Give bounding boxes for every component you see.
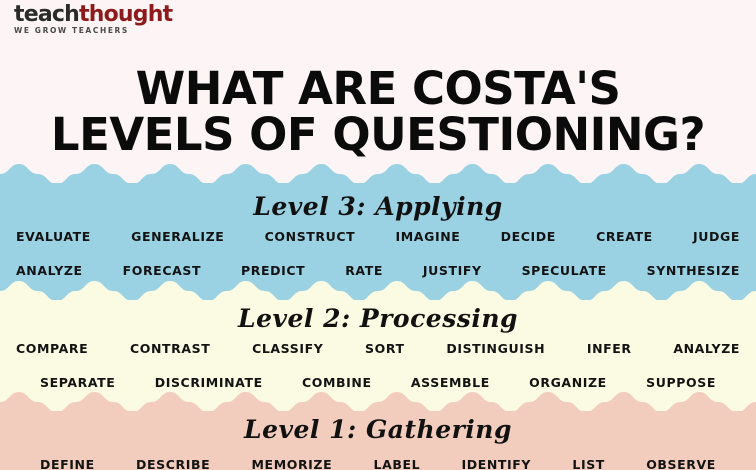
level-2-word: SORT: [365, 341, 405, 356]
level-2-word-row-1: COMPARE CONTRAST CLASSIFY SORT DISTINGUI…: [0, 341, 756, 356]
brand-logo-teach: teach: [14, 2, 79, 27]
level-2-word: SUPPOSE: [646, 375, 716, 390]
level-2-word: INFER: [587, 341, 632, 356]
level-1-title: Level 1: Gathering: [0, 415, 756, 444]
level-3-word: FORECAST: [123, 263, 202, 278]
page-title-line-2: LEVELS OF QUESTIONING?: [0, 112, 756, 158]
level-3-word: CONSTRUCT: [265, 229, 356, 244]
level-1-word: DESCRIBE: [136, 457, 210, 470]
level-2-word: SEPARATE: [40, 375, 115, 390]
level-3-word: IMAGINE: [396, 229, 461, 244]
level-2-word: DISTINGUISH: [446, 341, 545, 356]
level-3-word: GENERALIZE: [131, 229, 224, 244]
level-2-word: CLASSIFY: [252, 341, 323, 356]
wave-divider-blue-icon: [0, 164, 756, 184]
level-2-word: DISCRIMINATE: [155, 375, 263, 390]
level-2-word: ORGANIZE: [529, 375, 607, 390]
wave-divider-cream-icon: [0, 281, 756, 301]
level-3-word: DECIDE: [501, 229, 556, 244]
level-2-title: Level 2: Processing: [0, 304, 756, 333]
level-3-word-row-2: ANALYZE FORECAST PREDICT RATE JUSTIFY SP…: [0, 263, 756, 278]
level-2-word-row-2: SEPARATE DISCRIMINATE COMBINE ASSEMBLE O…: [0, 375, 756, 390]
level-3-title: Level 3: Applying: [0, 192, 756, 221]
level-2-word: ANALYZE: [673, 341, 740, 356]
level-3-word: EVALUATE: [16, 229, 91, 244]
level-2-word: CONTRAST: [130, 341, 210, 356]
level-3-word: CREATE: [596, 229, 653, 244]
infographic-poster: teachthought WE GROW TEACHERS WHAT ARE C…: [0, 0, 756, 470]
level-3-word: SYNTHESIZE: [647, 263, 740, 278]
level-3-word: JUSTIFY: [423, 263, 482, 278]
brand-logo: teachthought WE GROW TEACHERS: [14, 4, 172, 35]
level-3-word-row-1: EVALUATE GENERALIZE CONSTRUCT IMAGINE DE…: [0, 229, 756, 244]
level-3-word: ANALYZE: [16, 263, 83, 278]
level-1-word: IDENTIFY: [461, 457, 531, 470]
brand-logo-thought: thought: [79, 2, 172, 27]
level-3-word: RATE: [345, 263, 383, 278]
wave-divider-pink-icon: [0, 392, 756, 412]
level-3-word: SPECULATE: [522, 263, 607, 278]
brand-tagline: WE GROW TEACHERS: [14, 27, 172, 35]
page-title: WHAT ARE COSTA'S LEVELS OF QUESTIONING?: [0, 66, 756, 158]
level-1-word: LIST: [572, 457, 605, 470]
level-3-word: PREDICT: [241, 263, 305, 278]
level-2-word: COMPARE: [16, 341, 88, 356]
level-2-word: ASSEMBLE: [411, 375, 490, 390]
level-1-word: LABEL: [374, 457, 421, 470]
level-3-word: JUDGE: [693, 229, 740, 244]
level-1-word-row-1: DEFINE DESCRIBE MEMORIZE LABEL IDENTIFY …: [0, 457, 756, 470]
page-title-line-1: WHAT ARE COSTA'S: [0, 66, 756, 112]
level-1-word: DEFINE: [40, 457, 95, 470]
level-1-word: MEMORIZE: [252, 457, 333, 470]
brand-logo-wordmark: teachthought: [14, 4, 172, 26]
level-2-word: COMBINE: [302, 375, 372, 390]
level-1-word: OBSERVE: [646, 457, 716, 470]
